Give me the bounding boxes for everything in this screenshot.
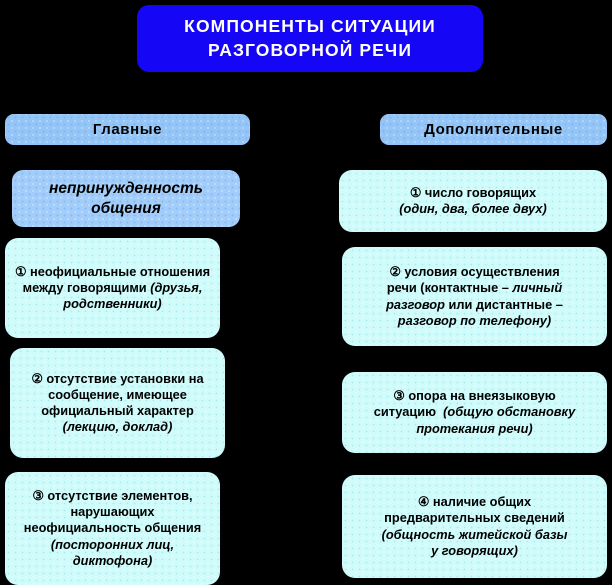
column-header-main: Главные bbox=[5, 114, 250, 145]
main-item-1-line-2: между говорящими bbox=[23, 280, 147, 295]
additional-item-3-line-2-italic: (общую обстановку bbox=[443, 404, 575, 419]
additional-item-3: ③ опора на внеязыковую ситуацию (общую о… bbox=[342, 372, 607, 453]
main-item-3-line-5-italic: диктофона) bbox=[24, 553, 201, 569]
main-item-2-line-3: официальный характер bbox=[31, 403, 203, 419]
additional-item-1-line-1: ① число говорящих bbox=[399, 185, 546, 201]
additional-item-2-line-3: или дистантные – bbox=[449, 297, 563, 312]
primary-component-line-1: непринужденность bbox=[49, 180, 203, 197]
main-item-3-line-3: неофициальность общения bbox=[24, 520, 201, 536]
title-line-2: РАЗГОВОРНОЙ РЕЧИ bbox=[208, 40, 412, 60]
primary-component-box: непринужденность общения bbox=[12, 170, 240, 227]
main-item-3: ③ отсутствие элементов, нарушающих неофи… bbox=[5, 472, 220, 585]
main-item-1-line-1: ① неофициальные отношения bbox=[15, 264, 210, 280]
additional-item-2-line-2: речи (контактные – bbox=[387, 280, 509, 295]
main-item-1-line-2-italic: (друзья, bbox=[150, 280, 202, 295]
additional-item-4-line-1: ④ наличие общих bbox=[382, 494, 568, 510]
additional-item-3-line-1: ③ опора на внеязыковую bbox=[374, 388, 576, 404]
main-item-2-line-1: ② отсутствие установки на bbox=[31, 371, 203, 387]
additional-item-2-line-2-italic: личный bbox=[512, 280, 562, 295]
additional-item-4: ④ наличие общих предварительных сведений… bbox=[342, 475, 607, 578]
column-header-additional: Дополнительные bbox=[380, 114, 607, 145]
additional-item-4-line-2: предварительных сведений bbox=[382, 510, 568, 526]
primary-component-line-2: общения bbox=[91, 200, 161, 217]
additional-item-2: ② условия осуществления речи (контактные… bbox=[342, 247, 607, 346]
additional-item-3-line-3-italic: протекания речи) bbox=[374, 421, 576, 437]
main-item-3-line-1: ③ отсутствие элементов, bbox=[24, 488, 201, 504]
column-header-main-label: Главные bbox=[93, 121, 162, 138]
main-item-1-line-3-italic: родственники) bbox=[15, 296, 210, 312]
additional-item-4-line-3-italic: (общность житейской базы bbox=[382, 527, 568, 543]
main-item-2: ② отсутствие установки на сообщение, име… bbox=[10, 348, 225, 458]
diagram-canvas: КОМПОНЕНТЫ СИТУАЦИИ РАЗГОВОРНОЙ РЕЧИ Гла… bbox=[0, 0, 612, 585]
additional-item-1: ① число говорящих (один, два, более двух… bbox=[339, 170, 607, 232]
additional-item-1-line-2-italic: (один, два, более двух) bbox=[399, 201, 546, 217]
additional-item-2-line-1: ② условия осуществления bbox=[386, 264, 563, 280]
main-item-3-line-2: нарушающих bbox=[24, 504, 201, 520]
main-item-2-line-2: сообщение, имеющее bbox=[31, 387, 203, 403]
additional-item-2-line-3-italic: разговор bbox=[386, 297, 445, 312]
column-header-additional-label: Дополнительные bbox=[424, 121, 563, 138]
additional-item-3-line-2: ситуацию bbox=[374, 404, 436, 419]
additional-item-2-line-4-italic: разговор по телефону) bbox=[386, 313, 563, 329]
additional-item-4-line-4-italic: у говорящих) bbox=[382, 543, 568, 559]
title-line-1: КОМПОНЕНТЫ СИТУАЦИИ bbox=[184, 16, 436, 36]
diagram-title: КОМПОНЕНТЫ СИТУАЦИИ РАЗГОВОРНОЙ РЕЧИ bbox=[137, 5, 483, 72]
main-item-3-line-4-italic: (посторонних лиц, bbox=[24, 537, 201, 553]
main-item-1: ① неофициальные отношения между говорящи… bbox=[5, 238, 220, 338]
main-item-2-line-4-italic: (лекцию, доклад) bbox=[31, 419, 203, 435]
